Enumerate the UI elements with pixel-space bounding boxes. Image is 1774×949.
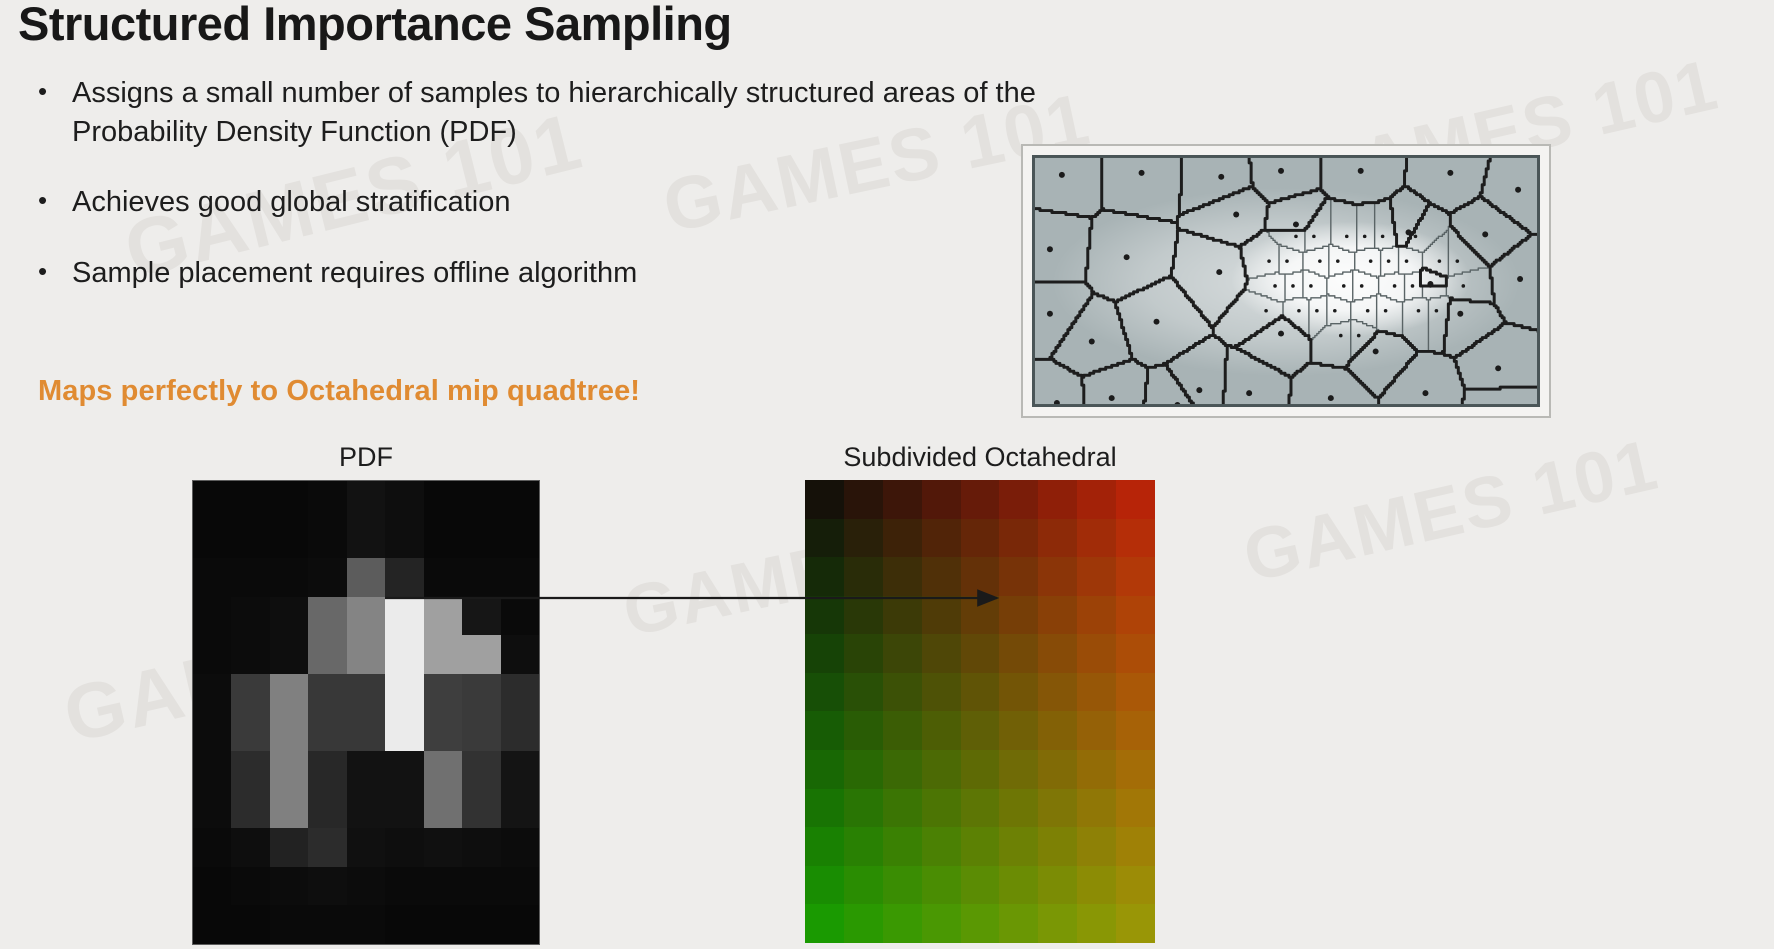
octahedral-texel [805,596,844,635]
octahedral-texel [922,827,961,866]
pdf-texel [501,481,539,520]
pdf-texel [424,674,462,713]
octahedral-texel [1077,596,1116,635]
octahedral-texel [961,827,1000,866]
pdf-texel [347,790,385,829]
octahedral-texel [922,634,961,673]
octahedral-texel [961,557,1000,596]
pdf-texel [385,520,423,559]
pdf-texel [270,867,308,906]
watermark-text: GAMES 101 [1236,424,1666,599]
octahedral-texel [999,673,1038,712]
pdf-texel [347,674,385,713]
pdf-texel [385,558,423,597]
octahedral-texel [961,634,1000,673]
pdf-texel [308,828,346,867]
pdf-texel [270,520,308,559]
pdf-texel [462,481,500,520]
octahedral-texel [1038,904,1077,943]
octahedral-texel [1116,789,1155,828]
octahedral-texel [844,519,883,558]
octahedral-texel [999,557,1038,596]
pdf-texel [501,790,539,829]
page-title: Structured Importance Sampling [18,0,732,51]
pdf-texel-grid [192,480,540,945]
voronoi-stratification-diagram [1032,155,1540,407]
octahedral-texel [1077,634,1116,673]
octahedral-texel [883,557,922,596]
octahedral-texel [922,904,961,943]
octahedral-texel [922,519,961,558]
octahedral-texel [1038,750,1077,789]
octahedral-texel [805,480,844,519]
pdf-texel [501,635,539,674]
pdf-figure-block: PDF [192,440,540,945]
octahedral-texel [1116,519,1155,558]
octahedral-texel [1077,519,1116,558]
pdf-texel [270,558,308,597]
octahedral-texel [961,596,1000,635]
pdf-texel [270,751,308,790]
pdf-texel [462,674,500,713]
pdf-texel [424,520,462,559]
octahedral-texel [805,519,844,558]
pdf-texel [193,905,231,944]
pdf-texel [308,597,346,636]
octahedral-texel [999,634,1038,673]
pdf-texel [347,481,385,520]
pdf-texel [193,828,231,867]
octahedral-texel [844,827,883,866]
octahedral-texel [883,711,922,750]
octahedral-texel [883,750,922,789]
octahedral-texel [922,557,961,596]
octahedral-texel [844,634,883,673]
pdf-texel [424,751,462,790]
octahedral-texel [805,673,844,712]
octahedral-texel [999,827,1038,866]
pdf-texel [308,674,346,713]
octahedral-texel [805,750,844,789]
pdf-texel [308,790,346,829]
bullet-marker-icon: • [30,74,72,109]
pdf-texel [347,712,385,751]
pdf-texel [385,597,423,636]
pdf-texel [193,751,231,790]
octahedral-texel [1077,711,1116,750]
octahedral-texel [1116,557,1155,596]
octahedral-texel [1038,827,1077,866]
octahedral-texel [999,789,1038,828]
octahedral-texel [1077,789,1116,828]
octahedral-texel [1038,789,1077,828]
octahedral-texel [805,634,844,673]
octahedral-texel [961,480,1000,519]
octahedral-texel [1038,596,1077,635]
pdf-texel [424,828,462,867]
pdf-texel [462,867,500,906]
pdf-texel [385,790,423,829]
octahedral-texel [805,789,844,828]
bullet-marker-icon: • [30,183,72,218]
pdf-texel [231,674,269,713]
octahedral-texel [844,557,883,596]
pdf-texel [231,867,269,906]
pdf-texel [347,828,385,867]
octahedral-texel [844,711,883,750]
octahedral-texel [1038,519,1077,558]
pdf-texel [347,520,385,559]
octahedral-texel [1077,673,1116,712]
pdf-texel [424,597,462,636]
bullet-list: • Assigns a small number of samples to h… [30,74,1040,324]
pdf-texel [193,674,231,713]
octahedral-texel [922,750,961,789]
texels-figure-block: Subdivided Octahedral texels [805,440,1155,943]
octahedral-texel [805,904,844,943]
pdf-texel [308,481,346,520]
octahedral-texel [999,519,1038,558]
octahedral-texel [922,866,961,905]
bullet-text: Sample placement requires offline algori… [72,254,1040,293]
pdf-texel [193,558,231,597]
pdf-texel [385,674,423,713]
pdf-texel [193,520,231,559]
octahedral-texel [961,711,1000,750]
pdf-caption: PDF [192,440,540,474]
pdf-texel [385,712,423,751]
pdf-texel [424,558,462,597]
octahedral-texel [1116,827,1155,866]
octahedral-texel [883,827,922,866]
octahedral-texel [805,711,844,750]
octahedral-texel [999,711,1038,750]
pdf-texel [193,790,231,829]
octahedral-texel [883,634,922,673]
octahedral-texel [961,750,1000,789]
subdivided-octahedral-texel-grid [805,480,1155,943]
pdf-texel [231,828,269,867]
octahedral-texel [1116,596,1155,635]
octahedral-texel [805,557,844,596]
octahedral-texel [961,673,1000,712]
octahedral-texel [883,519,922,558]
octahedral-texel [1077,750,1116,789]
pdf-texel [347,597,385,636]
octahedral-texel [844,750,883,789]
octahedral-texel [999,866,1038,905]
pdf-texel [308,751,346,790]
pdf-texel [385,905,423,944]
pdf-texel [270,481,308,520]
octahedral-texel [1077,904,1116,943]
pdf-texel [501,597,539,636]
octahedral-texel [961,519,1000,558]
octahedral-texel [805,827,844,866]
pdf-texel [193,597,231,636]
octahedral-texel [1038,866,1077,905]
octahedral-texel [844,673,883,712]
pdf-texel [462,828,500,867]
pdf-texel [270,635,308,674]
pdf-texel [424,790,462,829]
pdf-texel [462,790,500,829]
pdf-texel [385,867,423,906]
pdf-texel [462,712,500,751]
octahedral-texel [999,750,1038,789]
octahedral-texel [1116,866,1155,905]
pdf-texel [501,558,539,597]
octahedral-texel [1077,827,1116,866]
pdf-texel [501,520,539,559]
pdf-texel [347,751,385,790]
pdf-texel [501,905,539,944]
octahedral-texel [883,789,922,828]
octahedral-texel [961,904,1000,943]
pdf-texel [424,712,462,751]
pdf-texel [308,558,346,597]
pdf-texel [308,867,346,906]
octahedral-texel [1116,634,1155,673]
pdf-texel [501,751,539,790]
octahedral-texel [961,866,1000,905]
octahedral-texel [922,596,961,635]
octahedral-texel [1116,480,1155,519]
pdf-texel [462,635,500,674]
pdf-texel [231,790,269,829]
octahedral-texel [844,904,883,943]
octahedral-texel [999,904,1038,943]
octahedral-texel [883,866,922,905]
list-item: • Achieves good global stratification [30,183,1040,222]
pdf-texel [231,520,269,559]
pdf-texel [231,751,269,790]
octahedral-texel [1038,557,1077,596]
pdf-texel [385,635,423,674]
pdf-texel [462,905,500,944]
octahedral-texel [1038,634,1077,673]
pdf-texel [308,712,346,751]
pdf-texel [231,481,269,520]
octahedral-texel [1116,904,1155,943]
pdf-texel [231,905,269,944]
bullet-marker-icon: • [30,254,72,289]
octahedral-texel [1116,711,1155,750]
pdf-texel [501,828,539,867]
pdf-texel [270,828,308,867]
octahedral-texel [844,866,883,905]
pdf-texel [501,674,539,713]
pdf-texel [193,867,231,906]
pdf-texel [308,520,346,559]
octahedral-texel [922,480,961,519]
pdf-texel [193,712,231,751]
octahedral-texel [999,480,1038,519]
octahedral-texel [883,480,922,519]
pdf-texel [424,481,462,520]
pdf-texel [270,597,308,636]
pdf-texel [193,635,231,674]
octahedral-texel [922,711,961,750]
octahedral-texel [1038,480,1077,519]
octahedral-texel [883,673,922,712]
octahedral-texel [1038,711,1077,750]
octahedral-texel [844,480,883,519]
texels-caption: Subdivided Octahedral texels [805,440,1155,474]
pdf-texel [385,481,423,520]
octahedral-texel [805,866,844,905]
pdf-texel [501,867,539,906]
pdf-texel [462,597,500,636]
list-item: • Sample placement requires offline algo… [30,254,1040,293]
pdf-texel [347,905,385,944]
pdf-texel [231,635,269,674]
octahedral-texel [1077,866,1116,905]
octahedral-texel [999,596,1038,635]
pdf-texel [270,905,308,944]
voronoi-figure-panel [1021,144,1551,418]
pdf-texel [385,751,423,790]
pdf-texel [270,712,308,751]
pdf-texel [308,635,346,674]
octahedral-texel [1077,557,1116,596]
pdf-texel [308,905,346,944]
pdf-texel [462,558,500,597]
pdf-texel [347,867,385,906]
pdf-texel [231,597,269,636]
pdf-texel [424,635,462,674]
octahedral-texel [922,673,961,712]
pdf-texel [462,520,500,559]
octahedral-texel [1116,750,1155,789]
pdf-texel [424,905,462,944]
bullet-text: Assigns a small number of samples to hie… [72,74,1040,151]
pdf-texel [270,674,308,713]
pdf-texel [231,712,269,751]
octahedral-texel [961,789,1000,828]
pdf-texel [424,867,462,906]
octahedral-texel [1077,480,1116,519]
pdf-texel [347,558,385,597]
pdf-texel [462,751,500,790]
octahedral-texel [844,596,883,635]
bullet-text: Achieves good global stratification [72,183,1040,222]
octahedral-texel [883,904,922,943]
octahedral-texel [922,789,961,828]
octahedral-texel [844,789,883,828]
highlight-text: Maps perfectly to Octahedral mip quadtre… [38,375,640,408]
octahedral-texel [883,596,922,635]
pdf-texel [347,635,385,674]
octahedral-texel [1038,673,1077,712]
pdf-texel [501,712,539,751]
pdf-texel [385,828,423,867]
pdf-texel [193,481,231,520]
octahedral-texel [1116,673,1155,712]
pdf-texel [270,790,308,829]
pdf-texel [231,558,269,597]
list-item: • Assigns a small number of samples to h… [30,74,1040,151]
